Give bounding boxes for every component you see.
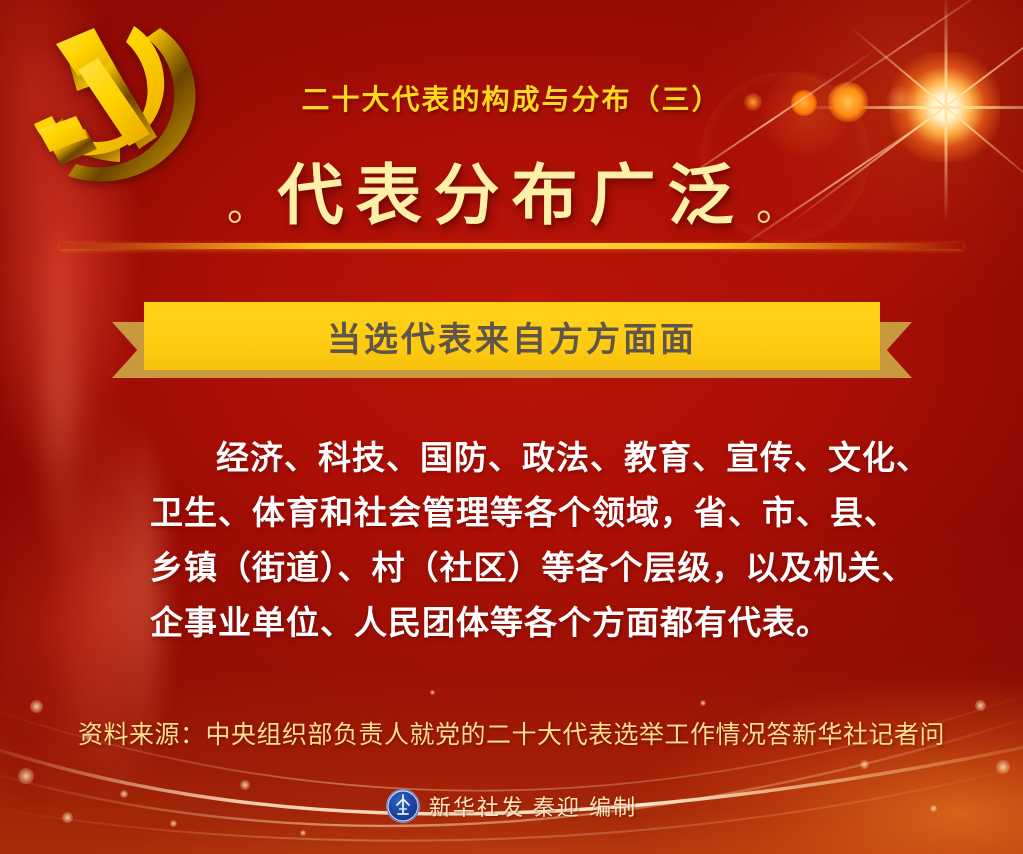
source-note: 资料来源：中央组织部负责人就党的二十大代表选举工作情况答新华社记者问 [0,715,1023,751]
particle [996,760,1010,774]
particle [860,760,869,769]
banner-ribbon: 当选代表来自方方面面 [112,298,912,382]
page-title: 代表分布广泛 [278,142,746,238]
ribbon-plate: 当选代表来自方方面面 [144,302,880,370]
particle [700,700,706,706]
xinhua-logo-icon [386,789,420,823]
credit-row: 新华社发 秦迎 编制 [0,789,1023,823]
particle [300,830,306,836]
headline-row: 。 代表分布广泛 。 [0,142,1023,238]
particle [430,690,435,695]
decoration-ring-right: 。 [756,174,796,232]
particle [30,700,43,713]
particle [975,700,986,711]
decoration-ring-left: 。 [227,174,267,232]
particle [18,768,34,784]
credit-label: 新华社发 秦迎 编制 [429,790,637,822]
poster-canvas: 二十大代表的构成与分布（三） 。 代表分布广泛 。 当选代表来自方方面面 经济、… [0,0,1023,854]
gold-divider-line [60,243,963,249]
body-line-2: 卫生、体育和社会管理等各个领域，省、市、县、 [150,485,880,540]
body-line-3: 乡镇（街道）、村（社区）等各个层级，以及机关、 [150,540,880,595]
banner-label: 当选代表来自方方面面 [327,312,697,361]
body-line-1: 经济、科技、国防、政法、教育、宣传、文化、 [150,430,880,485]
page-kicker: 二十大代表的构成与分布（三） [0,78,1023,118]
